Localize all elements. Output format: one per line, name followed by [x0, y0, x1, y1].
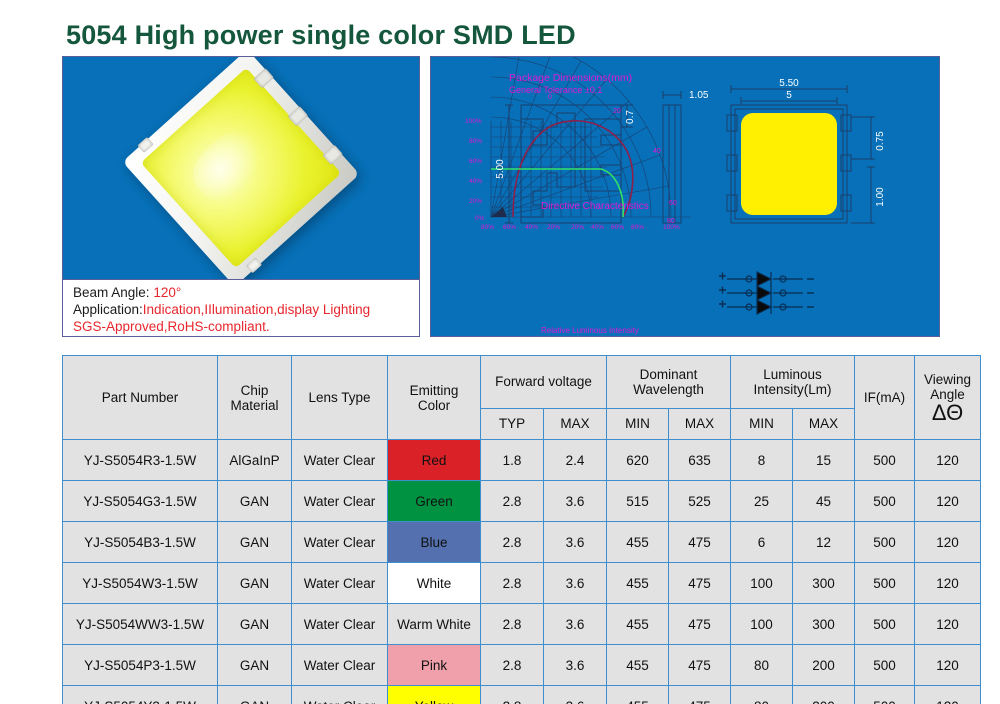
cell-wl-min: 620 [607, 440, 669, 481]
cell-wl-max: 475 [669, 686, 731, 704]
svg-text:0%: 0% [475, 215, 485, 222]
table-row: YJ-S5054G3-1.5WGANWater ClearGreen2.83.6… [63, 481, 981, 522]
table-header-row-1: Part Number Chip Material Lens Type Emit… [63, 356, 981, 409]
header-wl-max: MAX [669, 408, 731, 439]
svg-text:20%: 20% [571, 224, 584, 231]
cell-part-number: YJ-S5054WW3-1.5W [63, 604, 218, 645]
table-row: YJ-S5054R3-1.5WAlGaInPWater ClearRed1.82… [63, 440, 981, 481]
header-viewing-angle-l1: Viewing [917, 372, 978, 387]
cell-lm-max: 15 [793, 440, 855, 481]
package-drawing-panel: Package Dimensions(mm) General Tolerance… [430, 56, 940, 337]
svg-text:100%: 100% [663, 224, 680, 231]
svg-text:80%: 80% [481, 224, 494, 231]
cell-lens-type: Water Clear [292, 481, 388, 522]
header-luminous-intensity-l1: Luminous [733, 367, 852, 382]
header-viewing-angle: Viewing Angle ΔΘ [915, 356, 981, 440]
svg-text:0: 0 [548, 94, 552, 101]
cell-vf-max: 3.6 [544, 563, 607, 604]
cell-chip-material: GAN [218, 522, 292, 563]
cell-vf-typ: 2.8 [481, 563, 544, 604]
cell-viewing-angle: 120 [915, 686, 981, 704]
cell-chip-material: GAN [218, 645, 292, 686]
cell-viewing-angle: 120 [915, 604, 981, 645]
package-tolerance-subtitle: General Tolerance ±0.1 [509, 85, 602, 95]
cell-wl-min: 455 [607, 686, 669, 704]
svg-text:20: 20 [613, 108, 621, 115]
cell-lens-type: Water Clear [292, 645, 388, 686]
cell-part-number: YJ-S5054W3-1.5W [63, 563, 218, 604]
svg-text:60%: 60% [611, 224, 624, 231]
table-row: YJ-S5054B3-1.5WGANWater ClearBlue2.83.64… [63, 522, 981, 563]
header-emitting-color-l2: Color [390, 398, 478, 413]
cell-lm-max: 12 [793, 522, 855, 563]
dim-0-7: 0.7 [625, 110, 636, 124]
header-dominant-wavelength: Dominant Wavelength [607, 356, 731, 409]
cell-lens-type: Water Clear [292, 440, 388, 481]
cell-vf-typ: 1.8 [481, 440, 544, 481]
emitter-face [741, 113, 837, 215]
header-chip-material: Chip Material [218, 356, 292, 440]
page-title: 5054 High power single color SMD LED [66, 20, 576, 51]
cell-viewing-angle: 120 [915, 522, 981, 563]
cell-vf-max: 3.6 [544, 522, 607, 563]
cell-vf-typ: 2.8 [481, 604, 544, 645]
package-dimensions-title: Package Dimensions(mm) [509, 72, 632, 84]
cell-lm-max: 300 [793, 563, 855, 604]
cell-lens-type: Water Clear [292, 604, 388, 645]
application-label: Application: [73, 302, 143, 317]
cell-vf-typ: 2.8 [481, 522, 544, 563]
cell-vf-max: 3.6 [544, 481, 607, 522]
cell-chip-material: GAN [218, 481, 292, 522]
led-photo-image [63, 57, 419, 279]
cell-viewing-angle: 120 [915, 440, 981, 481]
application-line: Application:Indication,IIlumination,disp… [73, 301, 419, 318]
cell-part-number: YJ-S5054G3-1.5W [63, 481, 218, 522]
svg-text:40%: 40% [525, 224, 538, 231]
cell-if-ma: 500 [855, 645, 915, 686]
header-emitting-color-l1: Emitting [390, 383, 478, 398]
datasheet-page: 5054 High power single color SMD LED Bea… [0, 0, 1000, 704]
cell-vf-max: 3.6 [544, 645, 607, 686]
cell-wl-max: 525 [669, 481, 731, 522]
cell-viewing-angle: 120 [915, 563, 981, 604]
viewing-angle-symbol: ΔΘ [917, 402, 978, 424]
cell-chip-material: GAN [218, 686, 292, 704]
header-lens-type: Lens Type [292, 356, 388, 440]
cell-lm-min: 8 [731, 440, 793, 481]
cell-if-ma: 500 [855, 686, 915, 704]
header-chip-material-l1: Chip [220, 383, 289, 398]
cell-wl-min: 455 [607, 563, 669, 604]
cell-lm-min: 25 [731, 481, 793, 522]
dim-5-00: 5.00 [495, 159, 506, 179]
cell-lm-min: 6 [731, 522, 793, 563]
table-row: YJ-S5054WW3-1.5WGANWater ClearWarm White… [63, 604, 981, 645]
directive-characteristics-title: Directive Characteristics [541, 201, 649, 212]
cell-emitting-color: Red [388, 440, 481, 481]
cell-wl-min: 515 [607, 481, 669, 522]
cell-lm-max: 300 [793, 604, 855, 645]
svg-text:100%: 100% [465, 118, 482, 125]
cell-part-number: YJ-S5054Y3-1.5W [63, 686, 218, 704]
cell-chip-material: GAN [218, 604, 292, 645]
cell-chip-material: GAN [218, 563, 292, 604]
header-if-ma: IF(mA) [855, 356, 915, 440]
led-pad [246, 257, 262, 273]
beam-angle-label: Beam Angle: [73, 285, 153, 300]
media-panels: Beam Angle: 120° Application:Indication,… [62, 56, 940, 337]
led-photo-panel [62, 56, 420, 280]
cell-part-number: YJ-S5054P3-1.5W [63, 645, 218, 686]
cell-if-ma: 500 [855, 604, 915, 645]
cell-lm-min: 100 [731, 563, 793, 604]
cell-vf-typ: 2.8 [481, 481, 544, 522]
cell-wl-max: 475 [669, 522, 731, 563]
led-phosphor-area [141, 68, 342, 269]
header-emitting-color: Emitting Color [388, 356, 481, 440]
cell-emitting-color: White [388, 563, 481, 604]
cell-lens-type: Water Clear [292, 686, 388, 704]
cell-wl-max: 635 [669, 440, 731, 481]
header-luminous-intensity-l2: Intensity(Lm) [733, 382, 852, 397]
svg-text:40: 40 [653, 148, 661, 155]
dim-0-75: 0.75 [875, 131, 886, 151]
header-lm-max: MAX [793, 408, 855, 439]
header-dominant-wavelength-l1: Dominant [609, 367, 728, 382]
cell-emitting-color: Blue [388, 522, 481, 563]
cell-vf-typ: 2.8 [481, 686, 544, 704]
header-vf-typ: TYP [481, 408, 544, 439]
compliance-line: SGS-Approved,RoHS-compliant. [73, 318, 419, 335]
cell-vf-max: 2.4 [544, 440, 607, 481]
cell-lm-max: 200 [793, 686, 855, 704]
table-row: YJ-S5054Y3-1.5WGANWater ClearYellow2.83.… [63, 686, 981, 704]
cell-chip-material: AlGaInP [218, 440, 292, 481]
cell-part-number: YJ-S5054B3-1.5W [63, 522, 218, 563]
header-chip-material-l2: Material [220, 398, 289, 413]
dim-5: 5 [786, 90, 792, 101]
dim-1-05: 1.05 [689, 90, 709, 101]
svg-text:80: 80 [667, 218, 675, 225]
dim-1-00: 1.00 [875, 187, 886, 207]
dim-5-50: 5.50 [779, 78, 799, 89]
table-row: YJ-S5054W3-1.5WGANWater ClearWhite2.83.6… [63, 563, 981, 604]
cell-lm-max: 200 [793, 645, 855, 686]
svg-text:20%: 20% [469, 198, 482, 205]
svg-text:80%: 80% [631, 224, 644, 231]
cell-lm-min: 80 [731, 686, 793, 704]
cell-wl-max: 475 [669, 645, 731, 686]
cell-wl-min: 455 [607, 604, 669, 645]
led-photo-caption: Beam Angle: 120° Application:Indication,… [62, 280, 420, 337]
cell-if-ma: 500 [855, 522, 915, 563]
table-row: YJ-S5054P3-1.5WGANWater ClearPink2.83.64… [63, 645, 981, 686]
package-drawing-svg: Package Dimensions(mm) General Tolerance… [431, 57, 940, 337]
beam-angle-line: Beam Angle: 120° [73, 284, 419, 301]
header-luminous-intensity: Luminous Intensity(Lm) [731, 356, 855, 409]
svg-text:60%: 60% [503, 224, 516, 231]
cell-viewing-angle: 120 [915, 645, 981, 686]
cell-lm-max: 45 [793, 481, 855, 522]
cell-lens-type: Water Clear [292, 522, 388, 563]
cell-wl-max: 475 [669, 604, 731, 645]
led-package-body [122, 56, 359, 280]
cell-lm-min: 100 [731, 604, 793, 645]
specification-table: Part Number Chip Material Lens Type Emit… [62, 355, 981, 704]
svg-text:60: 60 [669, 200, 677, 207]
header-dominant-wavelength-l2: Wavelength [609, 382, 728, 397]
beam-angle-value: 120° [153, 285, 181, 300]
cell-wl-min: 455 [607, 645, 669, 686]
svg-text:20%: 20% [547, 224, 560, 231]
cell-emitting-color: Warm White [388, 604, 481, 645]
cell-part-number: YJ-S5054R3-1.5W [63, 440, 218, 481]
cell-wl-max: 475 [669, 563, 731, 604]
header-forward-voltage: Forward voltage [481, 356, 607, 409]
cell-vf-typ: 2.8 [481, 645, 544, 686]
svg-text:80%: 80% [469, 138, 482, 145]
cell-if-ma: 500 [855, 440, 915, 481]
cell-if-ma: 500 [855, 563, 915, 604]
header-vf-max: MAX [544, 408, 607, 439]
cell-if-ma: 500 [855, 481, 915, 522]
table-body: YJ-S5054R3-1.5WAlGaInPWater ClearRed1.82… [63, 440, 981, 704]
header-wl-min: MIN [607, 408, 669, 439]
application-value: Indication,IIlumination,display Lighting [143, 302, 370, 317]
cell-viewing-angle: 120 [915, 481, 981, 522]
led-pad [137, 137, 153, 153]
svg-text:60%: 60% [469, 158, 482, 165]
svg-text:40%: 40% [469, 178, 482, 185]
cell-emitting-color: Green [388, 481, 481, 522]
cell-emitting-color: Pink [388, 645, 481, 686]
svg-text:40%: 40% [591, 224, 604, 231]
polar-xlabel: Relative Luminous Intensity [541, 326, 639, 335]
header-part-number: Part Number [63, 356, 218, 440]
cell-wl-min: 455 [607, 522, 669, 563]
header-lm-min: MIN [731, 408, 793, 439]
cell-vf-max: 3.6 [544, 686, 607, 704]
cell-emitting-color: Yellow [388, 686, 481, 704]
cell-vf-max: 3.6 [544, 604, 607, 645]
cell-lens-type: Water Clear [292, 563, 388, 604]
cell-lm-min: 80 [731, 645, 793, 686]
